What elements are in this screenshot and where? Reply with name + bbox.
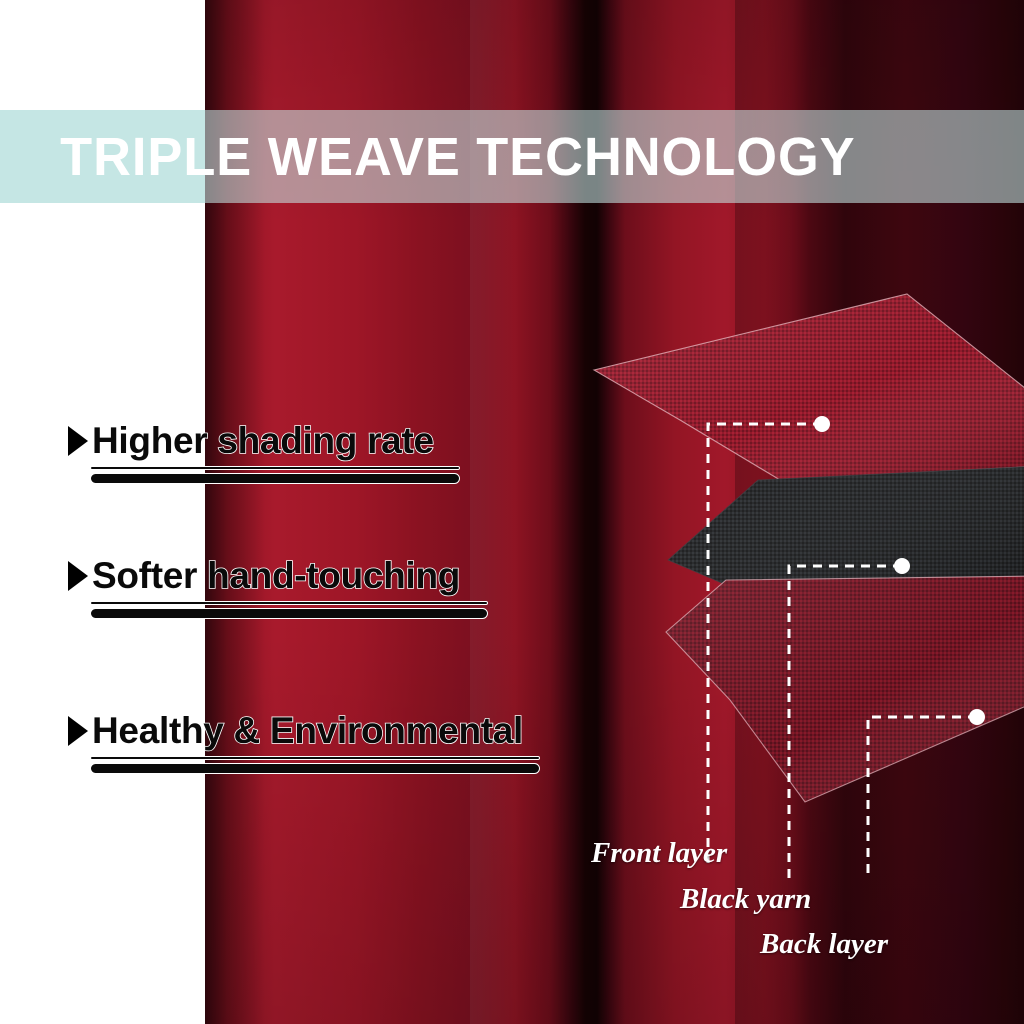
- feature-underline: [90, 756, 540, 774]
- triangle-bullet-icon: [68, 426, 88, 456]
- feature-underline-thick: [90, 473, 460, 484]
- feature-underline-thick: [90, 608, 488, 619]
- feature-underline-thick: [90, 763, 540, 774]
- callout-label-back-layer: Back layer: [760, 928, 888, 961]
- triangle-bullet-icon: [68, 716, 88, 746]
- infographic-canvas: TRIPLE WEAVE TECHNOLOGY Higher shading r…: [0, 0, 1024, 1024]
- feature-underline: [90, 466, 460, 484]
- callout-label-front-layer: Front layer: [591, 837, 727, 870]
- feature-item-healthy-environmental: Healthy & Environmental: [68, 712, 540, 774]
- feature-label: Higher shading rate: [92, 422, 434, 460]
- leader-dot-front-layer: [814, 416, 830, 432]
- leader-dot-black-yarn: [894, 558, 910, 574]
- diagram-back-layer: [666, 576, 1024, 802]
- feature-underline-thin: [90, 756, 540, 760]
- feature-label: Healthy & Environmental: [92, 712, 523, 750]
- feature-item-higher-shading-rate: Higher shading rate: [68, 422, 460, 484]
- feature-underline: [90, 601, 488, 619]
- diagram-front-layer: [594, 294, 1024, 480]
- leader-dot-back-layer: [969, 709, 985, 725]
- feature-underline-thin: [90, 466, 460, 470]
- triangle-bullet-icon: [68, 561, 88, 591]
- callout-label-black-yarn: Black yarn: [680, 883, 811, 916]
- feature-label: Softer hand-touching: [92, 557, 460, 595]
- fabric-layer-diagram: [580, 280, 1024, 880]
- feature-item-softer-hand-touching: Softer hand-touching: [68, 557, 488, 619]
- feature-underline-thin: [90, 601, 488, 605]
